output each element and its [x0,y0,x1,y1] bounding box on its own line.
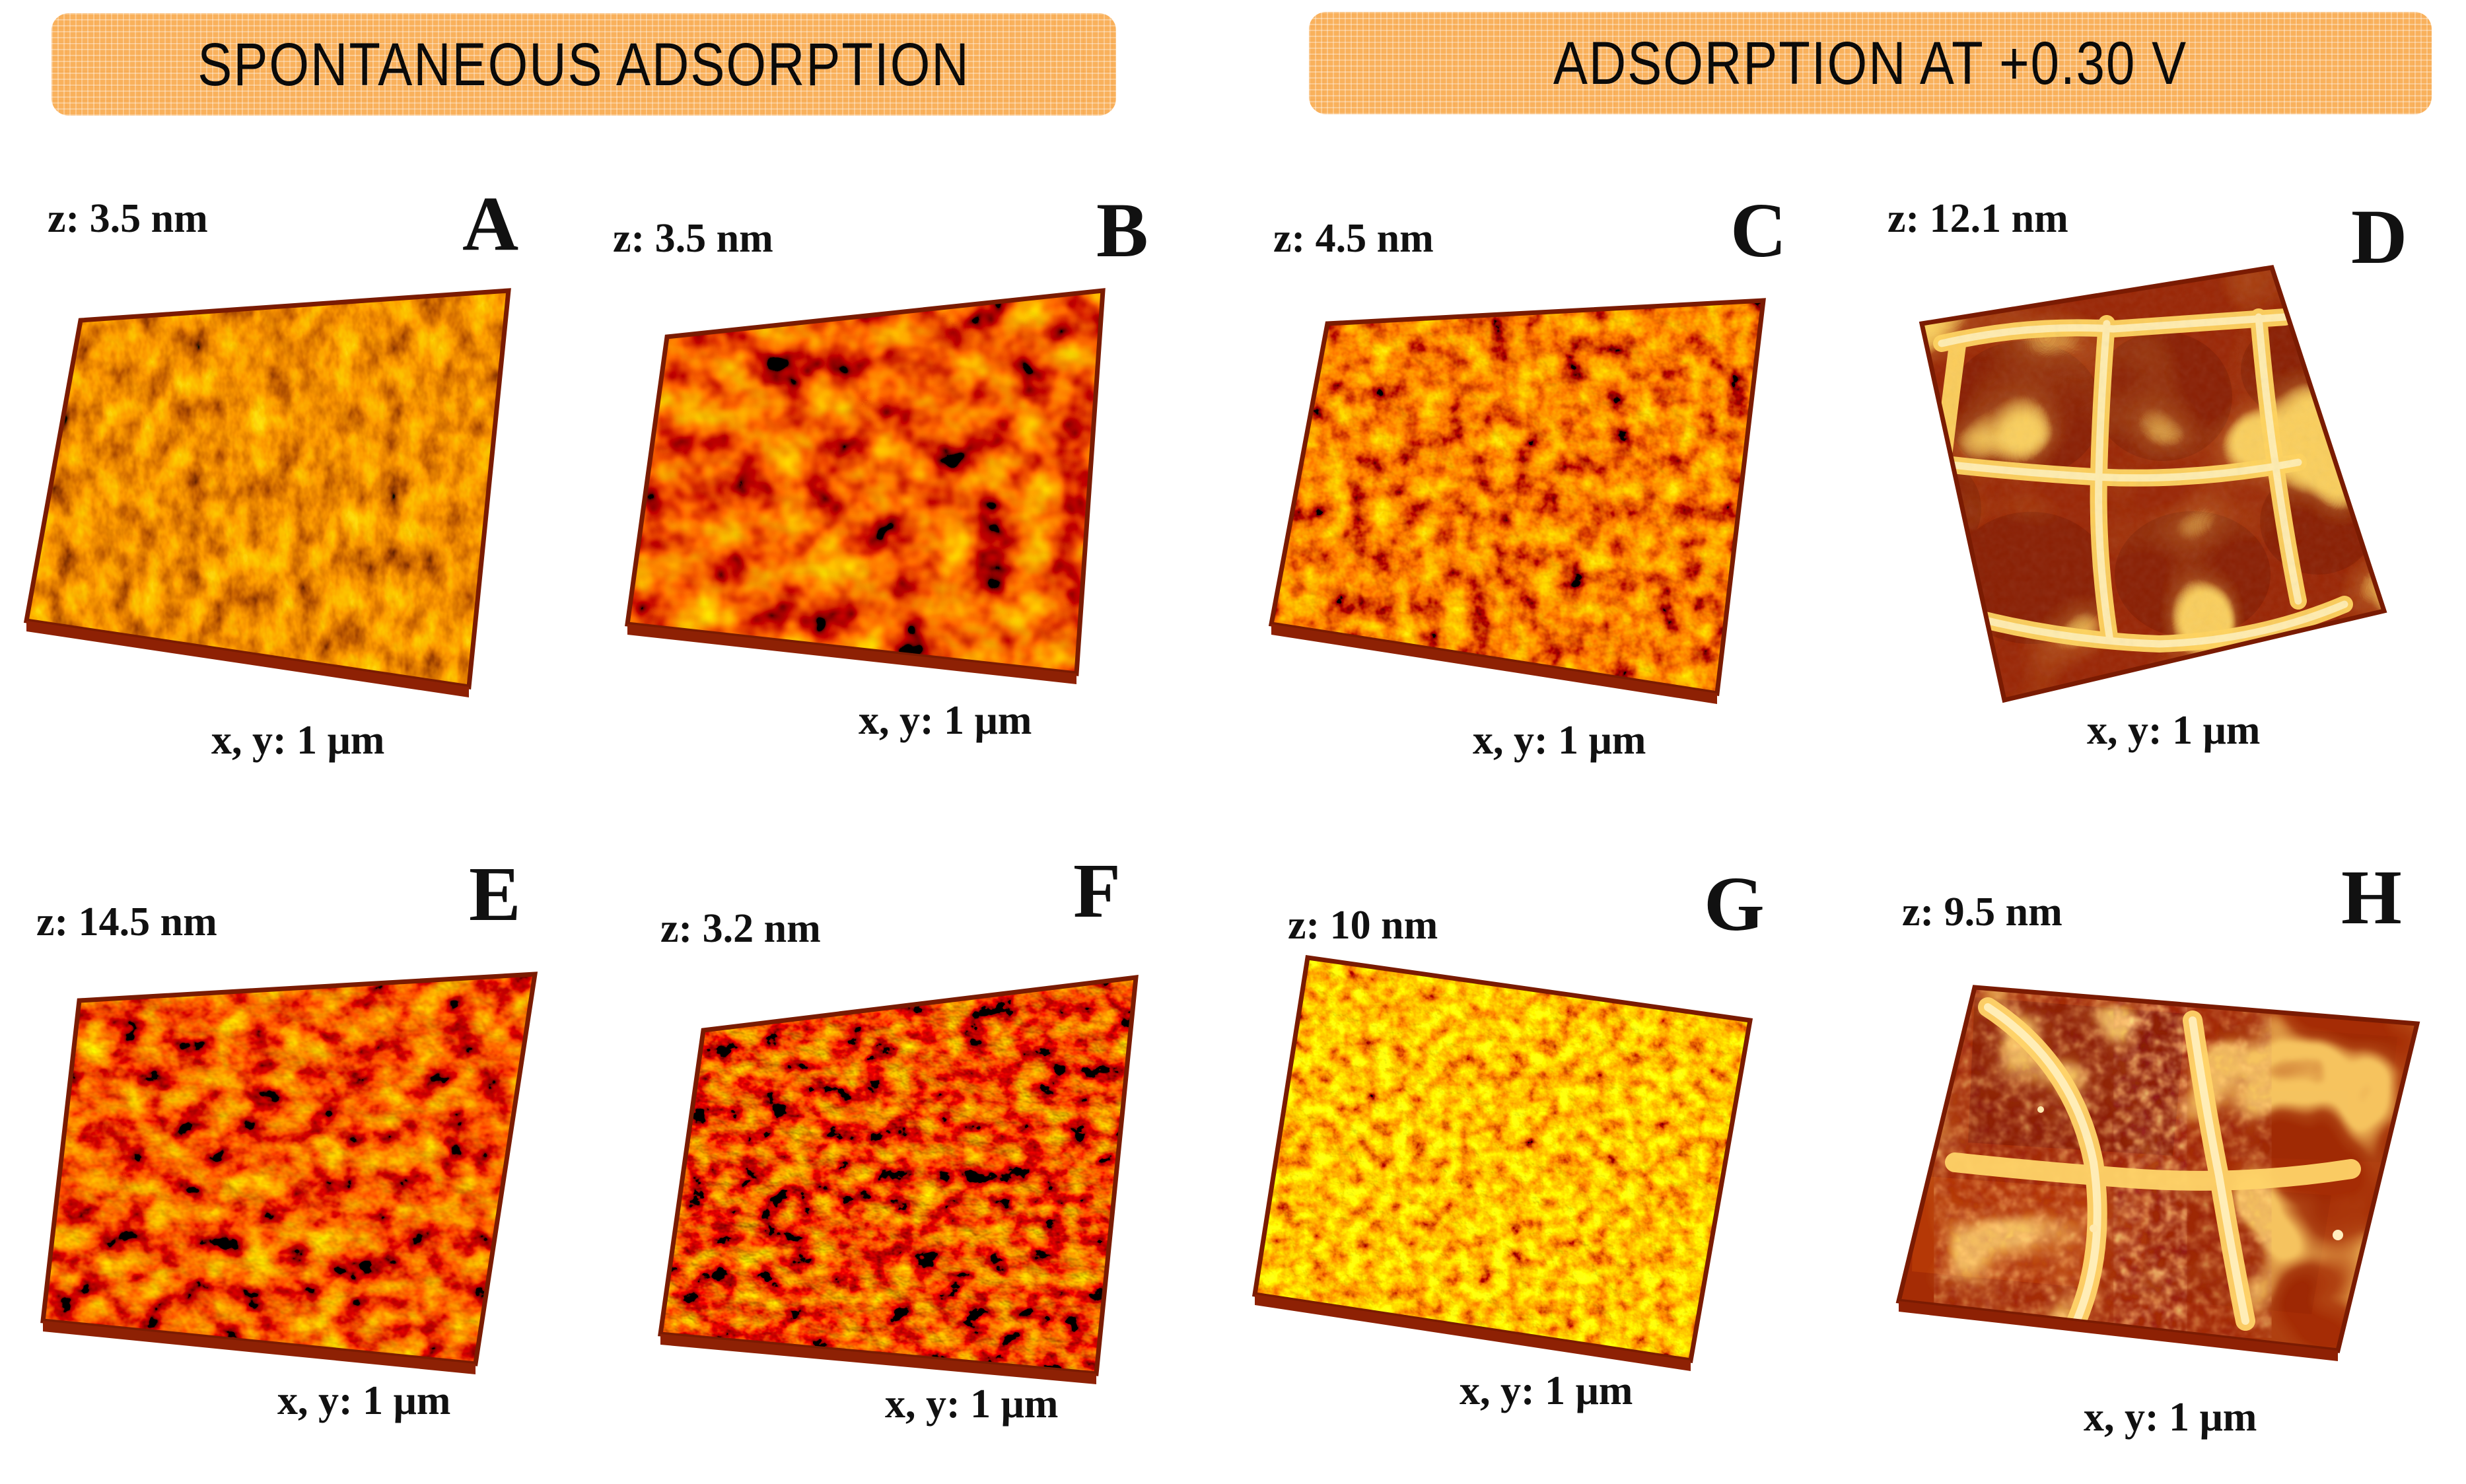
panel-letter: G [1704,865,1765,943]
afm-surface-image-b [601,264,1123,720]
z-range-label: z: 3.2 nm [660,908,821,949]
panel-letter: F [1073,852,1121,930]
afm-surface-image-a [7,251,528,726]
z-range-label: z: 12.1 nm [1887,198,2068,239]
z-range-label: z: 3.5 nm [613,218,773,259]
afm-surface-image-h [1876,944,2444,1433]
panel-letter: E [469,855,521,933]
z-range-label: z: 14.5 nm [36,901,217,942]
header-banner-adsorption-at-voltage: ADSORPTION AT +0.30 V [1309,12,2432,114]
panel-letter: C [1730,192,1786,269]
afm-surface-image-e [13,951,555,1427]
header-banner-label: SPONTANEOUS ADSORPTION [197,29,969,100]
z-range-label: z: 9.5 nm [1902,892,2062,933]
afm-surface-image-g [1228,938,1790,1420]
panel-letter: H [2341,859,2402,936]
afm-surface-image-d [1862,244,2404,720]
afm-surface-image-c [1255,264,1790,733]
header-banner-label: ADSORPTION AT +0.30 V [1553,28,2187,98]
panel-letter: B [1096,192,1148,269]
header-banner-spontaneous-adsorption: SPONTANEOUS ADSORPTION [52,13,1116,116]
afm-surface-image-f [634,958,1162,1433]
z-range-label: z: 3.5 nm [48,198,208,239]
z-range-label: z: 4.5 nm [1273,218,1434,259]
